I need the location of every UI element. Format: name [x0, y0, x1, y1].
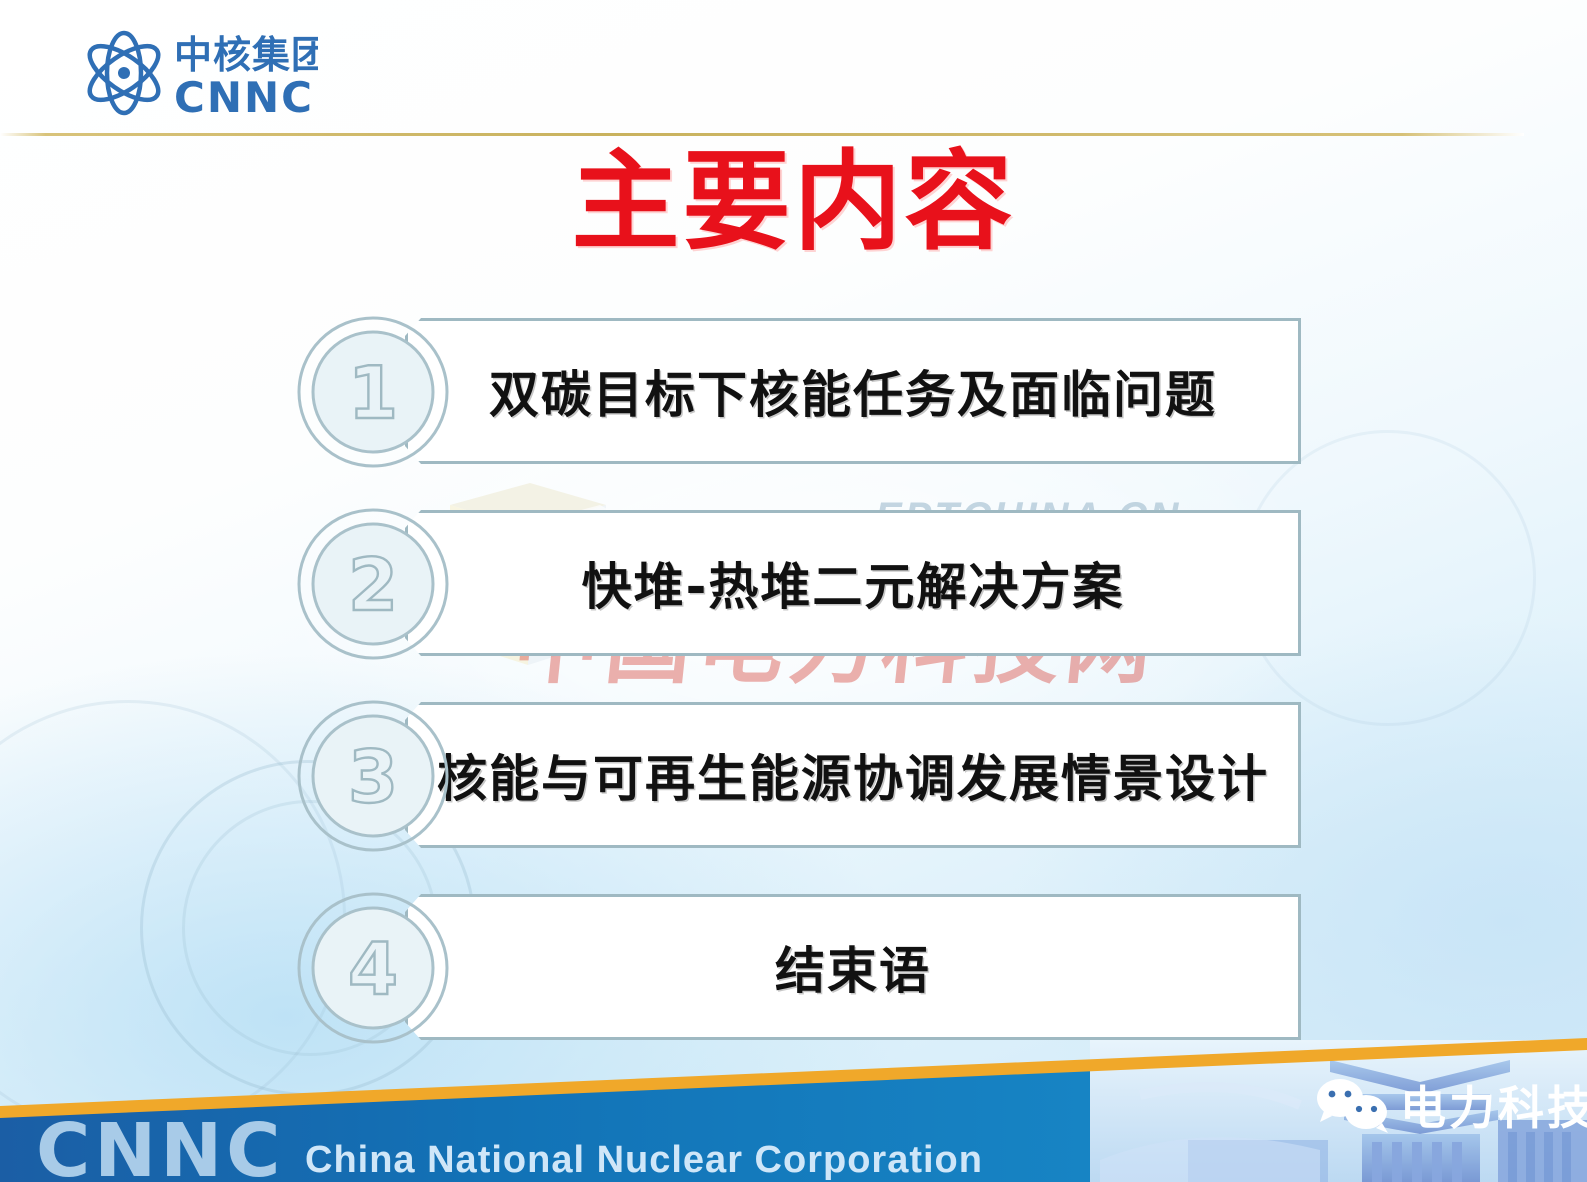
- content-box[interactable]: 快堆-热堆二元解决方案: [405, 510, 1301, 656]
- content-box[interactable]: 结束语: [405, 894, 1301, 1040]
- content-box[interactable]: 核能与可再生能源协调发展情景设计: [405, 702, 1301, 848]
- contents-list: 双碳目标下核能任务及面临问题 1 快堆-热堆二元解决方案 2: [0, 0, 1587, 1182]
- step-badge-3: 3: [293, 696, 453, 856]
- step-badge-2: 2: [293, 504, 453, 664]
- content-box[interactable]: 双碳目标下核能任务及面临问题: [405, 318, 1301, 464]
- badge-number: 4: [348, 927, 398, 1011]
- step-badge-4: 4: [293, 888, 453, 1048]
- badge-number: 3: [348, 735, 398, 819]
- badge-number: 1: [348, 351, 398, 435]
- content-label: 结束语: [775, 931, 931, 1003]
- step-badge-1: 1: [293, 312, 453, 472]
- content-label: 快堆-热堆二元解决方案: [582, 547, 1125, 619]
- content-label: 双碳目标下核能任务及面临问题: [489, 355, 1217, 427]
- badge-number: 2: [348, 543, 398, 627]
- slide-canvas: 中核集团 CNNC 主要内容 EPTCHINA.CN 中国电力科: [0, 0, 1587, 1182]
- content-label: 核能与可再生能源协调发展情景设计: [437, 739, 1269, 811]
